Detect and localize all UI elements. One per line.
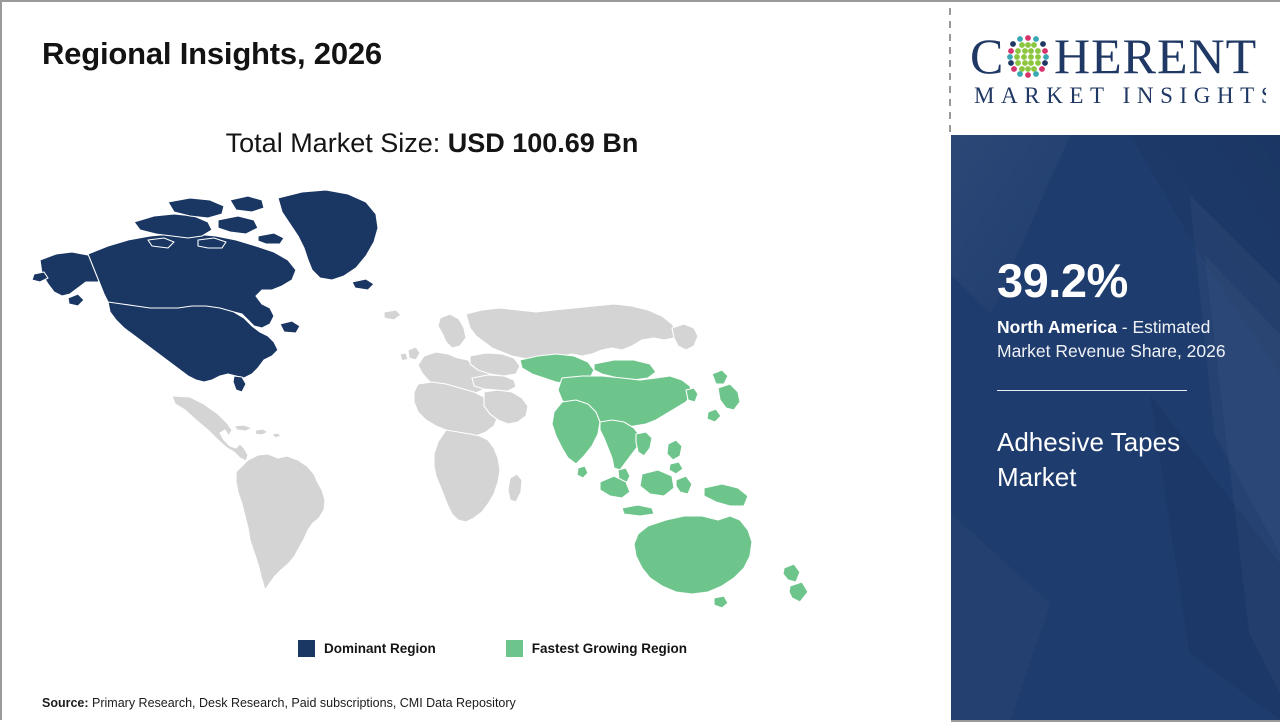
coherent-logo: C HERENT MARKET INSIGHTS <box>966 25 1266 113</box>
total-market-size: Total Market Size: USD 100.69 Bn <box>2 128 862 159</box>
svg-text:HERENT: HERENT <box>1054 28 1257 84</box>
legend-swatch-dominant <box>298 640 315 657</box>
legend-item-dominant: Dominant Region <box>298 640 436 657</box>
market-size-value: USD 100.69 Bn <box>448 128 639 158</box>
source-label: Source: <box>42 696 89 710</box>
source-text: Primary Research, Desk Research, Paid su… <box>89 696 516 710</box>
map-legend: Dominant Region Fastest Growing Region <box>298 640 687 657</box>
world-map-svg <box>22 178 902 618</box>
map-region-dominant <box>32 190 378 392</box>
legend-label-fastest-growing: Fastest Growing Region <box>532 641 687 656</box>
world-map-container <box>22 178 902 618</box>
infographic-root: Regional Insights, 2026 Total Market Siz… <box>0 0 1280 720</box>
page-title: Regional Insights, 2026 <box>42 36 382 72</box>
legend-swatch-fastest-growing <box>506 640 523 657</box>
svg-text:MARKET INSIGHTS: MARKET INSIGHTS <box>974 83 1266 108</box>
map-region-fastest-growing <box>520 354 808 608</box>
legend-item-fastest-growing: Fastest Growing Region <box>506 640 687 657</box>
market-name: Adhesive Tapes Market <box>997 425 1263 494</box>
legend-label-dominant: Dominant Region <box>324 641 436 656</box>
panel-divider-rule <box>997 390 1187 392</box>
svg-text:C: C <box>970 28 1003 84</box>
stat-panel-content: 39.2% North America - Estimated Market R… <box>997 257 1263 495</box>
brand-logo-box: C HERENT MARKET INSIGHTS <box>951 2 1280 135</box>
stat-panel: 39.2% North America - Estimated Market R… <box>951 135 1280 722</box>
stat-region-name: North America <box>997 317 1117 337</box>
stat-percent-value: 39.2% <box>997 257 1263 304</box>
globe-dots-icon <box>1007 35 1049 78</box>
left-content-pane: Regional Insights, 2026 Total Market Siz… <box>2 2 950 722</box>
market-size-label: Total Market Size: <box>226 128 448 158</box>
source-note: Source: Primary Research, Desk Research,… <box>42 696 516 710</box>
stat-description: North America - Estimated Market Revenue… <box>997 316 1263 364</box>
